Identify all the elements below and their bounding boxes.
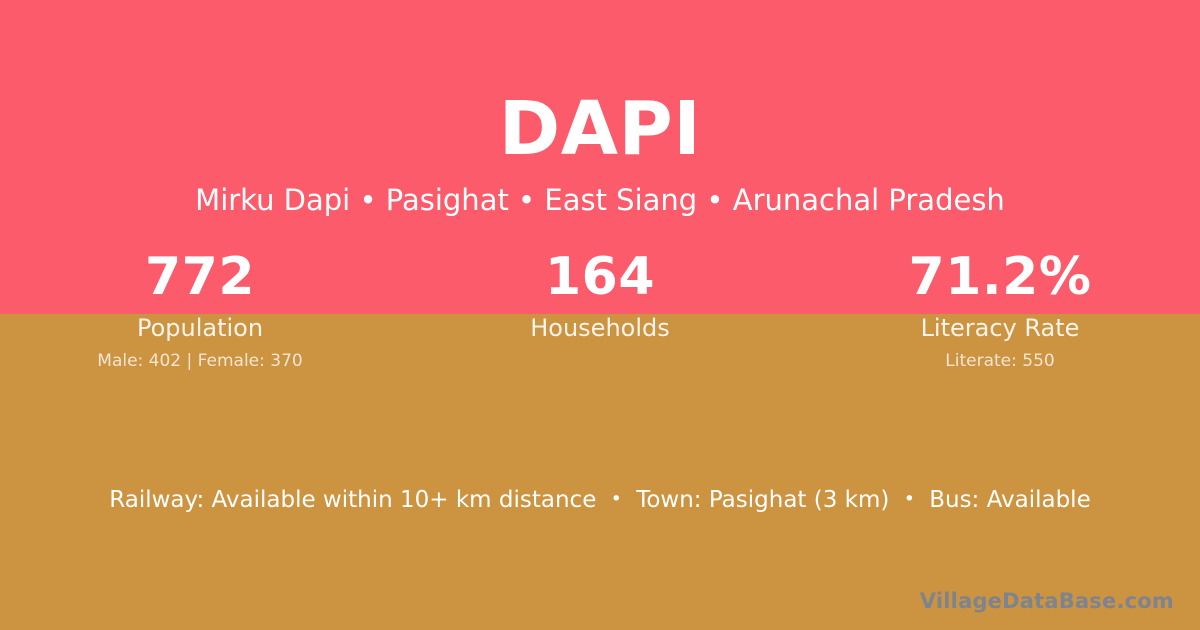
stat-label: Households bbox=[400, 314, 800, 342]
stat-population: 772 Population Male: 402 | Female: 370 bbox=[0, 248, 400, 371]
stat-households: 164 Households bbox=[400, 248, 800, 371]
bullet-separator-icon: • bbox=[604, 488, 629, 510]
page-title: DAPI bbox=[0, 86, 1200, 172]
stats-row: 772 Population Male: 402 | Female: 370 1… bbox=[0, 248, 1200, 371]
breadcrumb: Mirku Dapi • Pasighat • East Siang • Aru… bbox=[0, 181, 1200, 219]
stat-value: 164 bbox=[400, 248, 800, 306]
stat-sub: Male: 402 | Female: 370 bbox=[0, 351, 400, 371]
facilities-line: Railway: Available within 10+ km distanc… bbox=[0, 485, 1200, 516]
bullet-separator-icon: • bbox=[897, 488, 922, 510]
site-watermark: VillageDataBase.com bbox=[920, 588, 1174, 614]
stat-sub: Literate: 550 bbox=[800, 351, 1200, 371]
facility-railway: Railway: Available within 10+ km distanc… bbox=[109, 487, 596, 513]
facility-town: Town: Pasighat (3 km) bbox=[636, 487, 889, 513]
stat-label: Literacy Rate bbox=[800, 314, 1200, 342]
stat-value: 772 bbox=[0, 248, 400, 306]
village-info-card: DAPI Mirku Dapi • Pasighat • East Siang … bbox=[0, 0, 1200, 630]
stat-label: Population bbox=[0, 314, 400, 342]
stat-literacy-rate: 71.2% Literacy Rate Literate: 550 bbox=[800, 248, 1200, 371]
stat-value: 71.2% bbox=[800, 248, 1200, 306]
facility-bus: Bus: Available bbox=[929, 487, 1091, 513]
card-content: DAPI Mirku Dapi • Pasighat • East Siang … bbox=[0, 0, 1200, 630]
